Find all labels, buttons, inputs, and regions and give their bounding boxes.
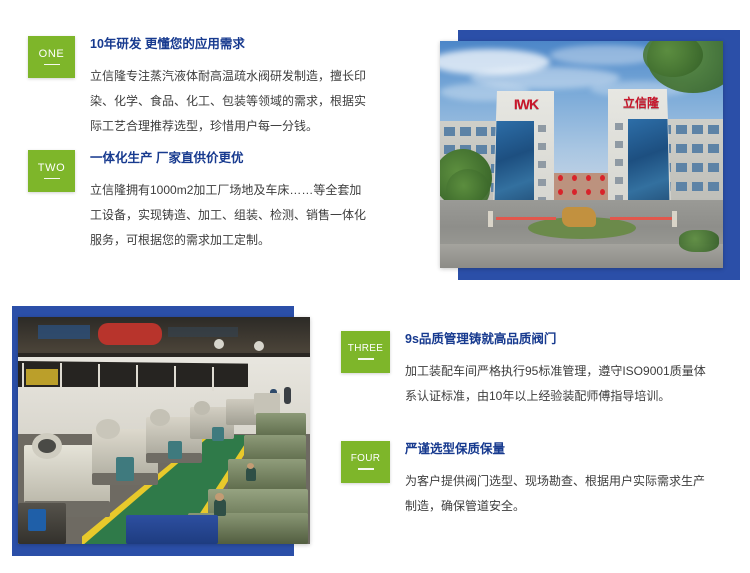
lantern <box>600 175 605 181</box>
window <box>615 159 623 166</box>
lathe-machine <box>228 459 306 491</box>
window <box>692 125 703 134</box>
building-sign-left: IWK <box>502 97 550 111</box>
overhead-duct <box>98 323 162 345</box>
window-mullion <box>212 367 214 391</box>
feature-body-line: 工设备，实现铸造、加工、组装、检测、销售一体化 <box>90 203 366 228</box>
feature-title: 10年研发 更懂您的应用需求 <box>90 38 366 52</box>
machine-dial <box>38 439 56 453</box>
window <box>615 141 623 148</box>
feature-block-three: THREE 9s品质管理铸就高品质阀门 加工装配车间严格执行95标准管理，遵守I… <box>341 331 741 409</box>
window <box>708 144 719 153</box>
feature-title: 一体化生产 厂家直供价更优 <box>90 152 366 166</box>
coolant-tank <box>116 457 134 481</box>
feature-badge-one: ONE <box>28 36 75 78</box>
worker-head <box>247 463 254 469</box>
window-mullion <box>136 365 138 389</box>
feature-body: 为客户提供阀门选型、现场勘查、根据用户实际需求生产 制造，确保管道安全。 <box>405 469 705 519</box>
lantern <box>600 189 605 195</box>
building-photo: IWK 立信隆 <box>440 41 723 268</box>
window-mullion <box>60 363 62 387</box>
window <box>676 182 687 191</box>
machine-spindle <box>150 409 170 426</box>
overhead-crane <box>26 369 58 385</box>
window-mullion <box>22 363 24 387</box>
worker-figure <box>214 499 226 516</box>
lantern <box>558 189 563 195</box>
feature-body-line: 际工艺合理推荐选型，珍惜用户每一分钱。 <box>90 114 366 139</box>
feature-block-four: FOUR 严谨选型保质保量 为客户提供阀门选型、现场勘查、根据用户实际需求生产 … <box>341 441 741 519</box>
building-photo-wrap: IWK 立信隆 <box>440 30 740 280</box>
window <box>708 163 719 172</box>
lantern <box>572 175 577 181</box>
window <box>676 125 687 134</box>
badge-underline-rule <box>44 64 60 66</box>
feature-body: 立信隆专注蒸汽液体耐高温疏水阀研发制造，擅长印 染、化学、食品、化工、包装等领域… <box>90 64 366 139</box>
feature-body: 加工装配车间严格执行95标准管理，遵守ISO9001质量体 系认证标准，由10年… <box>405 359 706 409</box>
machine-spindle <box>194 401 210 415</box>
equipment-panel <box>28 509 46 531</box>
landscape-rock <box>562 207 596 227</box>
window <box>676 163 687 172</box>
factory-photo <box>18 317 310 544</box>
feature-text-four: 严谨选型保质保量 为客户提供阀门选型、现场勘查、根据用户实际需求生产 制造，确保… <box>405 441 705 519</box>
barrier-gate <box>496 217 556 220</box>
window <box>615 177 623 184</box>
feature-block-one: ONE 10年研发 更懂您的应用需求 立信隆专注蒸汽液体耐高温疏水阀研发制造，擅… <box>28 36 388 139</box>
hedge <box>679 230 719 252</box>
feature-body: 立信隆拥有1000m2加工厂场地及车床……等全套加 工设备，实现铸造、加工、组装… <box>90 178 366 253</box>
feature-badge-three: THREE <box>341 331 390 373</box>
badge-underline-rule <box>44 178 60 180</box>
cnc-machine <box>254 393 280 415</box>
window <box>708 182 719 191</box>
window <box>538 143 546 150</box>
overhead-rack <box>38 325 90 339</box>
window <box>460 127 471 136</box>
feature-body-line: 为客户提供阀门选型、现场勘查、根据用户实际需求生产 <box>405 469 705 494</box>
window-mullion <box>174 366 176 390</box>
window <box>538 125 546 132</box>
feature-body-line: 服务，可根据您的需求加工定制。 <box>90 228 366 253</box>
feature-badge-label: TWO <box>38 163 65 174</box>
window <box>615 123 623 130</box>
window <box>444 127 455 136</box>
building-sign-right: 立信隆 <box>616 97 666 109</box>
lantern <box>586 189 591 195</box>
lantern <box>586 175 591 181</box>
feature-badge-label: THREE <box>348 344 383 354</box>
worker-head <box>215 493 224 501</box>
feature-text-one: 10年研发 更懂您的应用需求 立信隆专注蒸汽液体耐高温疏水阀研发制造，擅长印 染… <box>90 36 366 139</box>
gate-post <box>672 211 677 227</box>
feature-badge-label: FOUR <box>351 454 381 464</box>
window <box>708 125 719 134</box>
feature-body-line: 制造，确保管道安全。 <box>405 494 705 519</box>
blue-partition <box>126 515 218 544</box>
badge-underline-rule <box>358 468 374 470</box>
window <box>692 163 703 172</box>
factory-photo-wrap <box>12 306 317 556</box>
window <box>676 144 687 153</box>
gate-post <box>488 211 493 227</box>
feature-title: 严谨选型保质保量 <box>405 443 705 457</box>
window <box>692 182 703 191</box>
lantern <box>558 175 563 181</box>
worker-figure <box>284 387 291 404</box>
window <box>692 144 703 153</box>
feature-body-line: 染、化学、食品、化工、包装等领域的需求，根据实 <box>90 89 366 114</box>
worker-figure <box>246 467 256 481</box>
overhead-rack <box>168 327 238 337</box>
badge-underline-rule <box>358 358 374 360</box>
feature-body-line: 立信隆专注蒸汽液体耐高温疏水阀研发制造，擅长印 <box>90 64 366 89</box>
window <box>538 179 546 186</box>
coolant-tank <box>212 427 224 441</box>
barrier-gate <box>610 217 672 220</box>
feature-badge-label: ONE <box>39 49 65 60</box>
window <box>476 127 487 136</box>
window <box>538 161 546 168</box>
ceiling-lamp <box>214 339 224 349</box>
promo-canvas: ONE 10年研发 更懂您的应用需求 立信隆专注蒸汽液体耐高温疏水阀研发制造，擅… <box>0 0 750 573</box>
machine-spindle <box>96 419 120 439</box>
feature-body-line: 加工装配车间严格执行95标准管理，遵守ISO9001质量体 <box>405 359 706 384</box>
coolant-tank <box>168 441 182 459</box>
feature-body-line: 系认证标准，由10年以上经验装配师傅指导培训。 <box>405 384 706 409</box>
feature-badge-four: FOUR <box>341 441 390 483</box>
lathe-machine <box>256 413 306 437</box>
feature-badge-two: TWO <box>28 150 75 192</box>
window-mullion <box>98 364 100 388</box>
feature-text-two: 一体化生产 厂家直供价更优 立信隆拥有1000m2加工厂场地及车床……等全套加 … <box>90 150 366 253</box>
lantern <box>572 189 577 195</box>
feature-block-two: TWO 一体化生产 厂家直供价更优 立信隆拥有1000m2加工厂场地及车床……等… <box>28 150 388 253</box>
feature-text-three: 9s品质管理铸就高品质阀门 加工装配车间严格执行95标准管理，遵守ISO9001… <box>405 331 706 409</box>
feature-body-line: 立信隆拥有1000m2加工厂场地及车床……等全套加 <box>90 178 366 203</box>
ceiling-lamp <box>254 341 264 351</box>
feature-title: 9s品质管理铸就高品质阀门 <box>405 333 706 347</box>
